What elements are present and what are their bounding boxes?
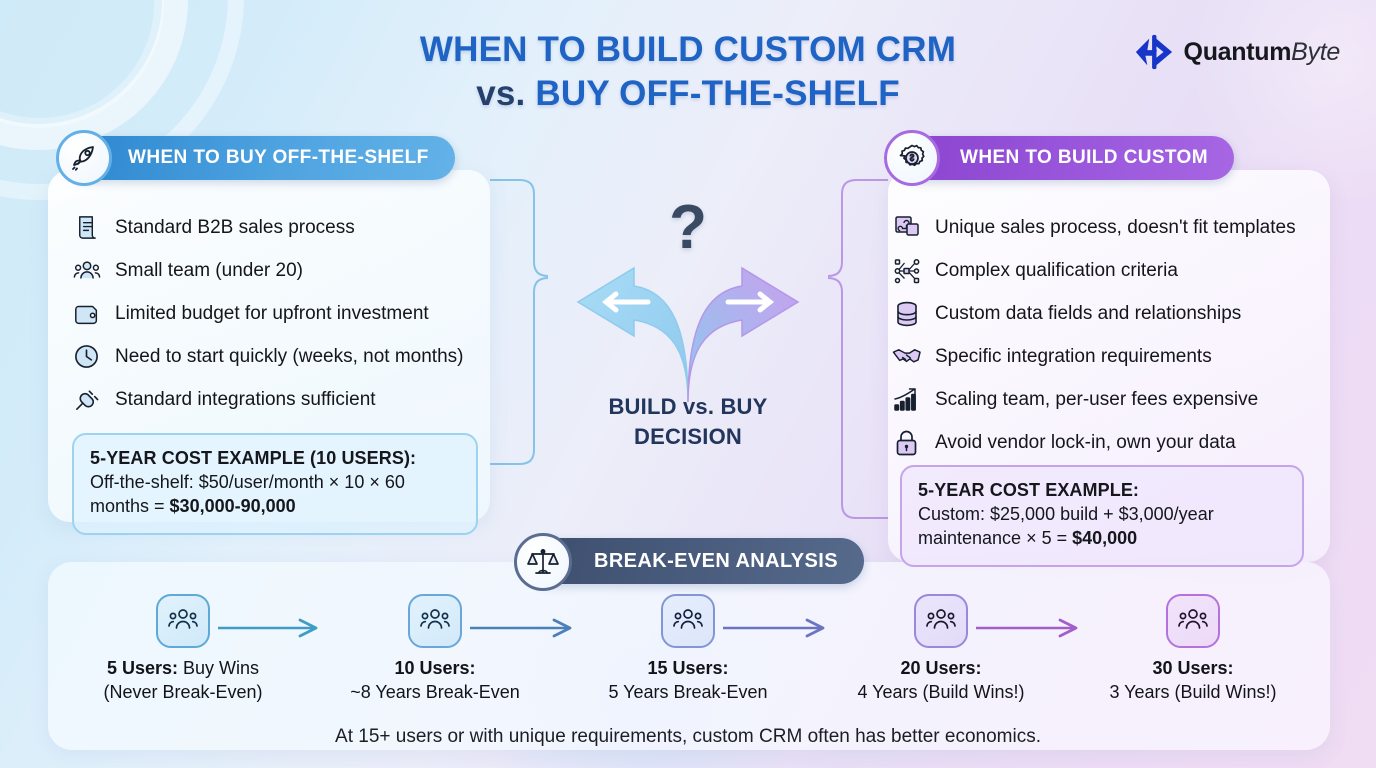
timeline-node-sub: 4 Years (Build Wins!)	[831, 681, 1051, 705]
list-item-label: Custom data fields and relationships	[935, 303, 1241, 325]
timeline-node-label: 15 Users: 5 Years Break-Even	[578, 657, 798, 705]
build-cost-box: 5-YEAR COST EXAMPLE: Custom: $25,000 bui…	[900, 465, 1304, 567]
timeline-node-title: 20 Users:	[900, 658, 981, 678]
gear-icon	[884, 130, 940, 186]
list-item: Standard integrations sufficient	[72, 378, 463, 421]
list-item: Specific integration requirements	[892, 335, 1296, 378]
title-vs-prefix: vs.	[476, 74, 535, 113]
list-item-label: Scaling team, per-user fees expensive	[935, 389, 1258, 411]
infographic-canvas: WHEN TO BUILD CUSTOM CRM vs. BUY OFF-THE…	[0, 0, 1376, 768]
buy-panel-header: WHEN TO BUY OFF-THE-SHELF	[66, 136, 455, 180]
timeline-node-title: 5 Users:	[107, 658, 178, 678]
timeline-arrow-3	[721, 617, 833, 639]
build-panel-header: WHEN TO BUILD CUSTOM	[898, 136, 1234, 180]
list-item: Avoid vendor lock-in, own your data	[892, 421, 1296, 464]
logo-text-bold: Quantum	[1184, 38, 1292, 66]
buy-cost-box: 5-YEAR COST EXAMPLE (10 USERS): Off-the-…	[72, 433, 478, 535]
timeline-node-detail: Buy Wins	[178, 658, 259, 678]
breakeven-header: BREAK-EVEN ANALYSIS	[528, 538, 864, 584]
timeline-node-title: 30 Users:	[1152, 658, 1233, 678]
build-cost-heading: 5-YEAR COST EXAMPLE:	[918, 480, 1139, 500]
buy-cost-heading: 5-YEAR COST EXAMPLE (10 USERS):	[90, 448, 416, 468]
timeline-node: 30 Users: 3 Years (Build Wins!)	[1083, 594, 1303, 705]
breakeven-header-label: BREAK-EVEN ANALYSIS	[594, 550, 838, 573]
growth-chart-icon	[892, 385, 921, 414]
database-icon	[892, 299, 921, 328]
build-cost-body: Custom: $25,000 build + $3,000/year main…	[918, 504, 1214, 548]
title-line-2: vs. BUY OFF-THE-SHELF	[0, 72, 1376, 116]
timeline-arrow-1	[216, 617, 326, 639]
rocket-icon	[56, 130, 112, 186]
build-panel-header-label: WHEN TO BUILD CUSTOM	[960, 147, 1208, 169]
timeline-node-label: 30 Users: 3 Years (Build Wins!)	[1083, 657, 1303, 705]
decision-label: BUILD vs. BUY DECISION	[566, 392, 810, 452]
users-icon	[914, 594, 968, 648]
decision-fork-arrows	[560, 230, 816, 410]
timeline-node-label: 10 Users: ~8 Years Break-Even	[325, 657, 545, 705]
quantumbyte-logo-mark-icon	[1133, 32, 1175, 72]
build-cost-value: $40,000	[1072, 528, 1137, 548]
list-item: Scaling team, per-user fees expensive	[892, 378, 1296, 421]
breakeven-timeline: 5 Users: Buy Wins (Never Break-Even) 10 …	[48, 590, 1330, 708]
clock-icon	[72, 342, 101, 371]
list-item-label: Specific integration requirements	[935, 346, 1212, 368]
timeline-arrow-2	[468, 617, 580, 639]
logo-text: QuantumByte	[1184, 38, 1340, 67]
wallet-icon	[72, 299, 101, 328]
list-item-label: Limited budget for upfront investment	[115, 303, 429, 325]
timeline-node-sub: 3 Years (Build Wins!)	[1083, 681, 1303, 705]
list-item-label: Avoid vendor lock-in, own your data	[935, 432, 1236, 454]
buy-panel-header-label: WHEN TO BUY OFF-THE-SHELF	[128, 147, 429, 169]
handshake-icon	[892, 342, 921, 371]
buy-cost-value: $30,000-90,000	[170, 496, 296, 516]
timeline-node-sub: ~8 Years Break-Even	[325, 681, 545, 705]
timeline-node: 10 Users: ~8 Years Break-Even	[325, 594, 545, 705]
timeline-node-title: 15 Users:	[647, 658, 728, 678]
list-item: Limited budget for upfront investment	[72, 292, 463, 335]
brand-logo: QuantumByte	[1133, 32, 1340, 72]
balance-scales-icon	[514, 533, 572, 591]
timeline-node-sub: 5 Years Break-Even	[578, 681, 798, 705]
timeline-node: 20 Users: 4 Years (Build Wins!)	[831, 594, 1051, 705]
decision-label-line2: DECISION	[566, 422, 810, 452]
timeline-node-sub: (Never Break-Even)	[73, 681, 293, 705]
decision-label-line1: BUILD vs. BUY	[566, 392, 810, 422]
list-item-label: Standard integrations sufficient	[115, 389, 376, 411]
users-icon	[156, 594, 210, 648]
plug-icon	[72, 385, 101, 414]
users-icon	[1166, 594, 1220, 648]
logo-text-italic: Byte	[1291, 38, 1340, 66]
footer-note: At 15+ users or with unique requirements…	[0, 726, 1376, 748]
list-item-label: Need to start quickly (weeks, not months…	[115, 346, 463, 368]
title-line-2-main: BUY OFF-THE-SHELF	[535, 74, 899, 113]
list-item: Need to start quickly (weeks, not months…	[72, 335, 463, 378]
timeline-node: 5 Users: Buy Wins (Never Break-Even)	[73, 594, 293, 705]
timeline-arrow-4	[974, 617, 1086, 639]
timeline-node: 15 Users: 5 Years Break-Even	[578, 594, 798, 705]
list-item: Custom data fields and relationships	[892, 292, 1296, 335]
timeline-node-label: 20 Users: 4 Years (Build Wins!)	[831, 657, 1051, 705]
timeline-node-title: 10 Users:	[394, 658, 475, 678]
users-icon	[408, 594, 462, 648]
lock-icon	[892, 428, 921, 457]
timeline-node-label: 5 Users: Buy Wins (Never Break-Even)	[73, 657, 293, 705]
users-icon	[661, 594, 715, 648]
